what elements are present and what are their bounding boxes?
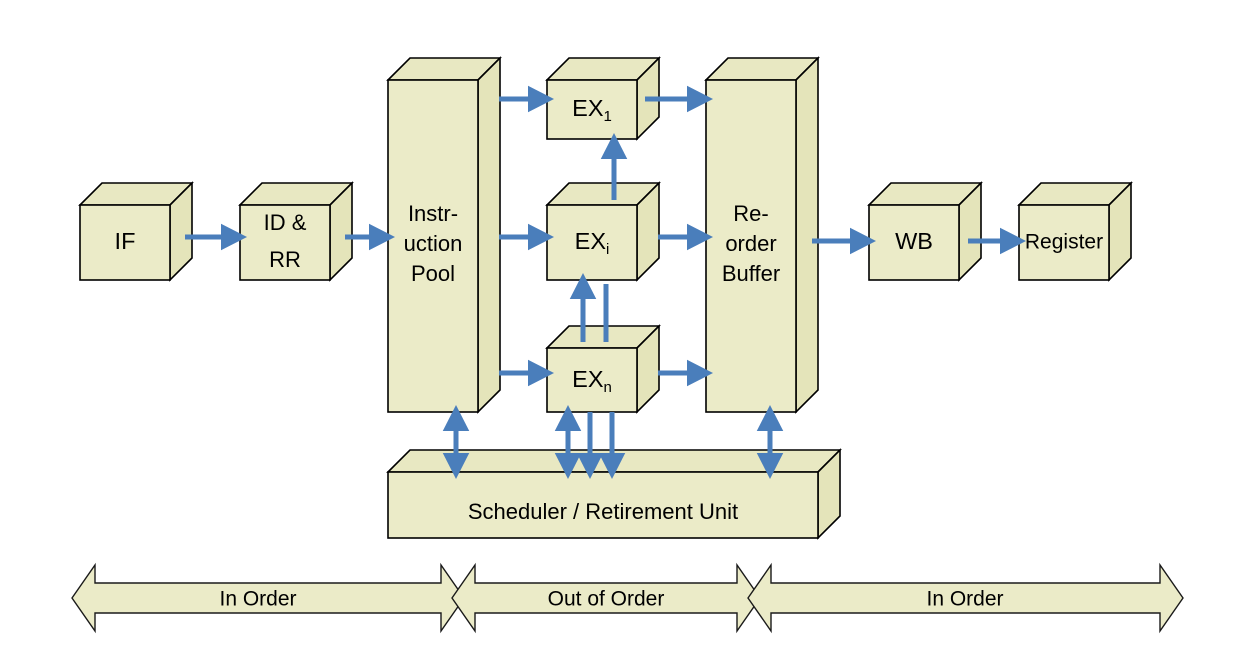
exi-label: EXi [575,228,610,258]
reorder-buffer-label-line1: Re- [733,201,768,226]
block-ex1[interactable]: EX1 [547,58,659,139]
block-exi[interactable]: EXi [547,183,659,280]
diagram-canvas: IF ID & RR Instr- uction Pool EX1 [0,0,1249,661]
phase-band-label-1: In Order [219,588,296,611]
register-label: Register [1025,231,1103,254]
reorder-buffer-label-line2: order [725,231,776,256]
pipeline-diagram: IF ID & RR Instr- uction Pool EX1 [0,0,1249,661]
block-id-rr[interactable]: ID & RR [240,183,352,280]
phase-band-in-order-left[interactable]: In Order [72,565,464,631]
instruction-pool-label-line2: uction [404,231,463,256]
phase-band-label-2: Out of Order [548,588,665,611]
reorder-buffer-side-face [796,58,818,412]
id-rr-label-line1: ID & [264,210,307,235]
instruction-pool-side-face [478,58,500,412]
block-exn[interactable]: EXn [547,326,659,412]
block-wb[interactable]: WB [869,183,981,280]
instruction-pool-label-line1: Instr- [408,201,458,226]
block-register[interactable]: Register [1019,183,1131,280]
id-rr-label-line2: RR [269,247,301,272]
reorder-buffer-label-line3: Buffer [722,261,780,286]
wb-label: WB [895,228,933,254]
instruction-pool-label-line3: Pool [411,261,455,286]
phase-band-in-order-right[interactable]: In Order [748,565,1183,631]
block-if[interactable]: IF [80,183,192,280]
block-instruction-pool[interactable]: Instr- uction Pool [388,58,500,412]
phase-band-label-3: In Order [926,588,1003,611]
phase-band-out-of-order[interactable]: Out of Order [452,565,760,631]
scheduler-label: Scheduler / Retirement Unit [468,499,738,524]
block-reorder-buffer[interactable]: Re- order Buffer [706,58,818,412]
if-label: IF [115,228,136,254]
